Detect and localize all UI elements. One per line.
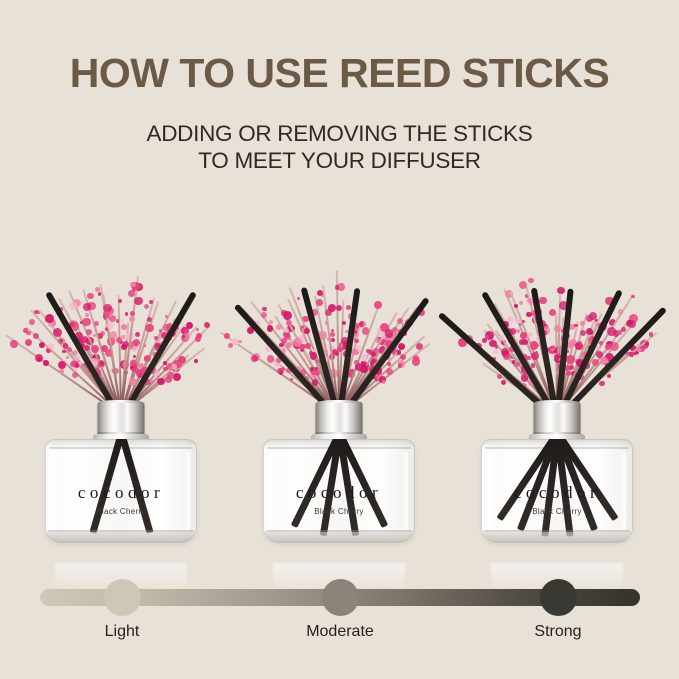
flower-blossom (62, 350, 65, 353)
intensity-marker-moderate[interactable] (322, 579, 359, 616)
flower-blossom (149, 300, 153, 304)
flower-blossom (25, 339, 32, 346)
flower-blossom (43, 360, 49, 366)
flower-blossom (382, 380, 386, 384)
flower-blossom (83, 303, 91, 311)
bottle-glass: cocodor Black Cherry (263, 439, 415, 543)
flower-blossom (281, 367, 285, 371)
flower-blossom (557, 287, 564, 294)
subtitle-line-2: TO MEET YOUR DIFFUSER (0, 147, 679, 174)
flower-blossom (95, 287, 100, 292)
scent-label: Black Cherry (481, 507, 633, 516)
flower-blossom (262, 307, 267, 312)
product-strong: cocodor Black Cherry (444, 215, 670, 565)
flower-blossom (499, 335, 504, 340)
flower-blossom (551, 348, 555, 352)
flower-blossom (130, 282, 136, 288)
product-row: cocodor Black Cherry (0, 215, 679, 565)
flower-blossom (398, 343, 406, 351)
glass-base (481, 532, 633, 543)
bottle-glass: cocodor Black Cherry (481, 439, 633, 543)
flower-blossom (636, 354, 639, 357)
intensity-marker-strong[interactable] (540, 579, 577, 616)
flower-blossom (337, 347, 342, 352)
flower-blossom (121, 335, 125, 339)
brand-logo: cocodor (263, 483, 415, 503)
flower-blossom (118, 299, 122, 303)
flower-blossom (48, 343, 55, 350)
bottle-cap (316, 403, 363, 437)
scent-label: Black Cherry (263, 507, 415, 516)
flower-blossom (269, 320, 273, 324)
flower-blossom (580, 321, 585, 326)
flower-blossom (566, 355, 575, 364)
flower-blossom (328, 304, 336, 312)
flower-blossom (73, 355, 80, 362)
flower-blossom (607, 374, 611, 378)
intensity-scale: Light Moderate Strong (0, 575, 679, 650)
product-moderate: cocodor Black Cherry (226, 215, 452, 565)
flower-blossom (356, 325, 359, 328)
flower-blossom (527, 332, 532, 337)
flower-blossom (125, 312, 129, 316)
flower-blossom (145, 324, 154, 333)
flower-blossom (91, 345, 99, 353)
flower-blossom (53, 328, 62, 337)
flower-blossom (579, 341, 582, 344)
flower-blossom (29, 319, 35, 325)
intensity-label-moderate: Moderate (280, 623, 400, 641)
flower-blossom (596, 346, 599, 349)
flower-blossom (316, 299, 323, 306)
flower-blossom (107, 322, 114, 329)
flower-blossom (618, 309, 624, 315)
bottle-cap (98, 403, 145, 437)
flower-blossom (530, 341, 538, 349)
flower-cluster (8, 215, 234, 420)
intensity-label-light: Light (62, 623, 182, 641)
flower-blossom (186, 322, 193, 329)
subtitle-line-1: ADDING OR REMOVING THE STICKS (0, 120, 679, 147)
flower-blossom (267, 325, 274, 332)
flower-blossom (121, 319, 124, 322)
flower-blossom (526, 356, 530, 360)
flower-blossom (520, 332, 527, 339)
flower-blossom (516, 329, 520, 333)
flower-blossom (238, 340, 241, 343)
flower-blossom (196, 333, 202, 339)
diffuser-bottle: cocodor Black Cherry (263, 403, 415, 563)
glass-base (45, 532, 197, 543)
flower-blossom (519, 323, 522, 326)
flower-blossom (629, 352, 634, 357)
flower-blossom (610, 342, 619, 351)
reed-arrangement-strong (444, 215, 670, 420)
flower-blossom (196, 328, 199, 331)
flower-blossom (33, 333, 39, 339)
flower-blossom (134, 297, 142, 305)
glass-base (263, 532, 415, 543)
product-light: cocodor Black Cherry (8, 215, 234, 565)
flower-blossom (522, 320, 525, 323)
flower-blossom (539, 297, 546, 304)
flower-blossom (325, 321, 328, 324)
flower-blossom (261, 312, 267, 318)
flower-blossom (297, 297, 301, 301)
flower-blossom (374, 301, 382, 309)
flower-blossom (363, 322, 366, 325)
flower-blossom (204, 322, 210, 328)
flower-blossom (305, 343, 311, 349)
flower-blossom (72, 372, 78, 378)
flower-blossom (304, 328, 310, 334)
flower-blossom (325, 350, 328, 353)
flower-blossom (283, 311, 292, 320)
flower-blossom (39, 342, 46, 349)
bottle-glass: cocodor Black Cherry (45, 439, 197, 543)
diffuser-bottle: cocodor Black Cherry (481, 403, 633, 563)
brand-logo: cocodor (481, 483, 633, 503)
page-subtitle: ADDING OR REMOVING THE STICKS TO MEET YO… (0, 120, 679, 174)
flower-blossom (595, 323, 599, 327)
flower-blossom (599, 341, 603, 345)
flower-blossom (507, 316, 514, 323)
flower-blossom (636, 347, 641, 352)
flower-blossom (485, 335, 489, 339)
flower-blossom (157, 378, 165, 386)
flower-blossom (360, 366, 367, 373)
flower-blossom (194, 359, 198, 363)
flower-blossom (94, 321, 99, 326)
page-title: HOW TO USE REED STICKS (0, 50, 679, 97)
flower-blossom (87, 293, 93, 299)
flower-blossom (173, 373, 181, 381)
flower-blossom (86, 329, 92, 335)
flower-blossom (310, 367, 314, 371)
flower-blossom (493, 350, 498, 355)
flower-blossom (599, 381, 605, 387)
flower-blossom (649, 332, 654, 337)
flower-blossom (362, 327, 370, 335)
flower-blossom (331, 338, 335, 342)
flower-blossom (60, 339, 63, 342)
flower-cluster (226, 215, 452, 420)
flower-blossom (163, 367, 167, 371)
flower-blossom (165, 376, 172, 383)
flower-blossom (330, 332, 335, 337)
flower-blossom (26, 331, 31, 336)
flower-blossom (135, 332, 140, 337)
flower-blossom (366, 349, 370, 353)
flower-blossom (276, 324, 282, 330)
flower-blossom (228, 343, 233, 348)
flower-blossom (574, 324, 578, 328)
scent-label: Black Cherry (45, 507, 197, 516)
flower-blossom (45, 314, 54, 323)
flower-blossom (519, 301, 523, 305)
flower-blossom (596, 351, 603, 358)
flower-blossom (147, 317, 152, 322)
flower-blossom (85, 313, 89, 317)
reed-arrangement-moderate (226, 215, 452, 420)
brand-logo: cocodor (45, 483, 197, 503)
flower-blossom (310, 352, 318, 360)
flower-blossom (605, 344, 611, 350)
flower-blossom (313, 349, 316, 352)
flower-blossom (82, 318, 91, 327)
flower-blossom (312, 379, 319, 386)
flower-blossom (386, 368, 393, 375)
bottle-cap (534, 403, 581, 437)
flower-blossom (132, 346, 138, 352)
flower-blossom (10, 340, 19, 349)
flower-blossom (501, 380, 506, 385)
flower-blossom (628, 320, 636, 328)
intensity-marker-light[interactable] (104, 579, 141, 616)
flower-blossom (66, 356, 69, 359)
flower-blossom (58, 361, 66, 369)
flower-blossom (63, 343, 69, 349)
flower-blossom (354, 339, 359, 344)
reed-arrangement-light (8, 215, 234, 420)
intensity-label-strong: Strong (498, 623, 618, 641)
infographic-page: HOW TO USE REED STICKS ADDING OR REMOVIN… (0, 0, 679, 679)
flower-blossom (100, 331, 105, 336)
flower-blossom (342, 321, 346, 325)
diffuser-bottle: cocodor Black Cherry (45, 403, 197, 563)
flower-blossom (251, 355, 258, 362)
flower-blossom (528, 278, 534, 284)
flower-blossom (224, 333, 230, 339)
flower-blossom (631, 295, 635, 299)
flower-blossom (286, 342, 293, 349)
flower-blossom (144, 304, 149, 309)
flower-blossom (109, 315, 116, 322)
